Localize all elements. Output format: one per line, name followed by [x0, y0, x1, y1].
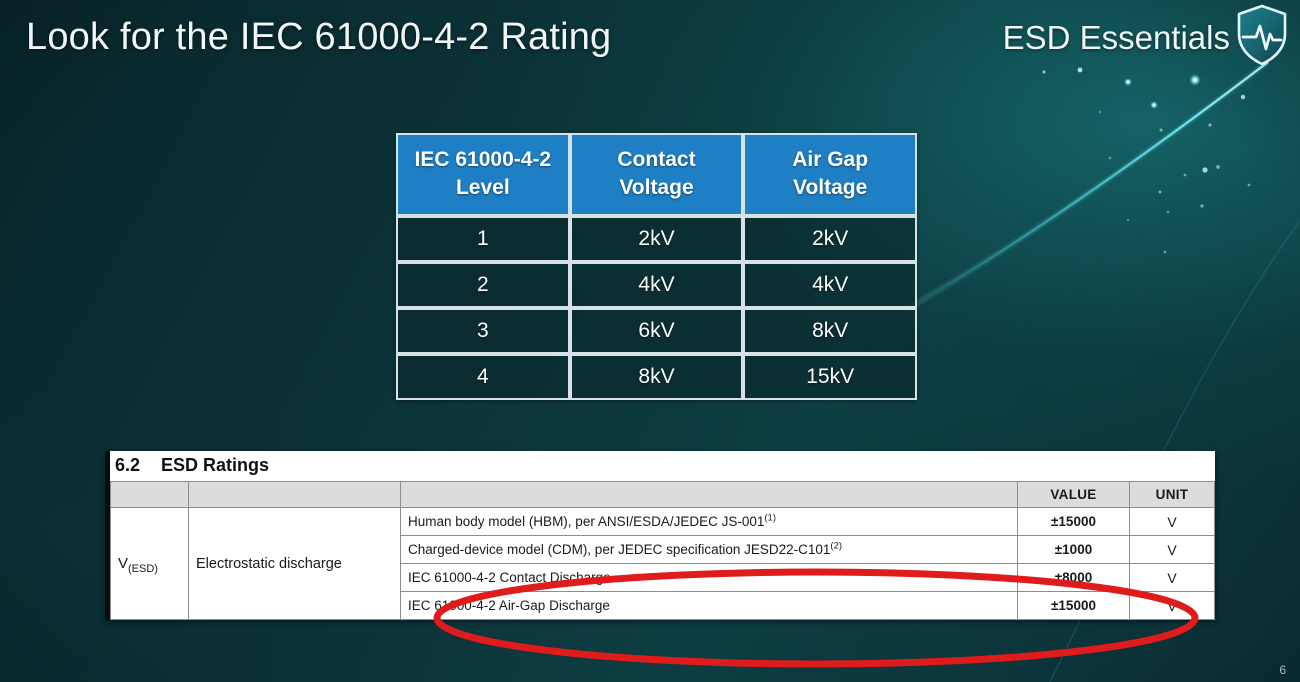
iec-cell-airgap: 2kV [743, 216, 917, 262]
table-row: 3 6kV 8kV [396, 308, 917, 354]
ds-cell-description: IEC 61000-4-2 Contact Discharge [401, 564, 1018, 592]
section-title: ESD Ratings [161, 455, 269, 475]
table-row: 4 8kV 15kV [396, 354, 917, 400]
symbol-text: V [118, 555, 128, 572]
ds-header-value: VALUE [1018, 482, 1130, 508]
page-number: 6 [1279, 663, 1286, 677]
iec-cell-level: 3 [396, 308, 570, 354]
iec-header-airgap-line2: Voltage [793, 176, 867, 199]
iec-header-contact: Contact Voltage [570, 133, 744, 216]
iec-cell-level: 1 [396, 216, 570, 262]
iec-cell-contact: 6kV [570, 308, 744, 354]
table-row: V(ESD) Electrostatic discharge Human bod… [111, 508, 1215, 536]
shield-heartbeat-icon [1236, 4, 1288, 66]
footnote-marker: (2) [830, 541, 842, 552]
iec-header-level: IEC 61000-4-2 Level [396, 133, 570, 216]
ds-cell-value: ±8000 [1018, 564, 1130, 592]
ds-cell-value: ±1000 [1018, 536, 1130, 564]
ds-cell-value: ±15000 [1018, 592, 1130, 620]
esd-ratings-table: VALUE UNIT V(ESD) Electrostatic discharg… [110, 481, 1215, 620]
footnote-marker: (1) [764, 513, 776, 524]
symbol-subscript: (ESD) [128, 563, 158, 575]
ds-cell-unit: V [1130, 508, 1215, 536]
iec-cell-contact: 8kV [570, 354, 744, 400]
datasheet-header-row: VALUE UNIT [111, 482, 1215, 508]
iec-header-level-line1: IEC 61000-4-2 [415, 148, 552, 171]
iec-header-contact-line2: Voltage [619, 176, 693, 199]
slide-canvas: Look for the IEC 61000-4-2 Rating ESD Es… [0, 0, 1300, 682]
page-title: Look for the IEC 61000-4-2 Rating [26, 16, 611, 59]
iec-cell-contact: 2kV [570, 216, 744, 262]
ds-cell-unit: V [1130, 592, 1215, 620]
ds-header-parameter [189, 482, 401, 508]
iec-level-table: IEC 61000-4-2 Level Contact Voltage Air … [396, 133, 917, 400]
ds-cell-description: Charged-device model (CDM), per JEDEC sp… [401, 536, 1018, 564]
ds-cell-unit: V [1130, 564, 1215, 592]
iec-cell-level: 4 [396, 354, 570, 400]
ds-cell-description: Human body model (HBM), per ANSI/ESDA/JE… [401, 508, 1018, 536]
table-row: 1 2kV 2kV [396, 216, 917, 262]
iec-header-level-line2: Level [456, 176, 510, 199]
description-text: Charged-device model (CDM), per JEDEC sp… [408, 542, 830, 557]
table-row: 2 4kV 4kV [396, 262, 917, 308]
ds-cell-unit: V [1130, 536, 1215, 564]
datasheet-excerpt: 6.2ESD Ratings VALUE UNIT V(ESD) Electro… [105, 451, 1215, 620]
ds-cell-value: ±15000 [1018, 508, 1130, 536]
ds-header-description [401, 482, 1018, 508]
iec-header-airgap-line1: Air Gap [792, 148, 868, 171]
ds-header-symbol [111, 482, 189, 508]
ds-cell-symbol: V(ESD) [111, 508, 189, 620]
description-text: Human body model (HBM), per ANSI/ESDA/JE… [408, 514, 764, 529]
iec-cell-airgap: 15kV [743, 354, 917, 400]
ds-cell-parameter: Electrostatic discharge [189, 508, 401, 620]
ds-cell-description: IEC 61000-4-2 Air-Gap Discharge [401, 592, 1018, 620]
datasheet-section-heading: 6.2ESD Ratings [110, 451, 1215, 481]
iec-header-contact-line1: Contact [617, 148, 695, 171]
ds-header-unit: UNIT [1130, 482, 1215, 508]
iec-cell-airgap: 8kV [743, 308, 917, 354]
iec-cell-airgap: 4kV [743, 262, 917, 308]
iec-cell-contact: 4kV [570, 262, 744, 308]
section-number: 6.2 [115, 455, 161, 476]
iec-cell-level: 2 [396, 262, 570, 308]
iec-header-airgap: Air Gap Voltage [743, 133, 917, 216]
iec-table-header-row: IEC 61000-4-2 Level Contact Voltage Air … [396, 133, 917, 216]
brand-lockup: ESD Essentials [1003, 10, 1288, 66]
brand-name: ESD Essentials [1003, 19, 1230, 57]
